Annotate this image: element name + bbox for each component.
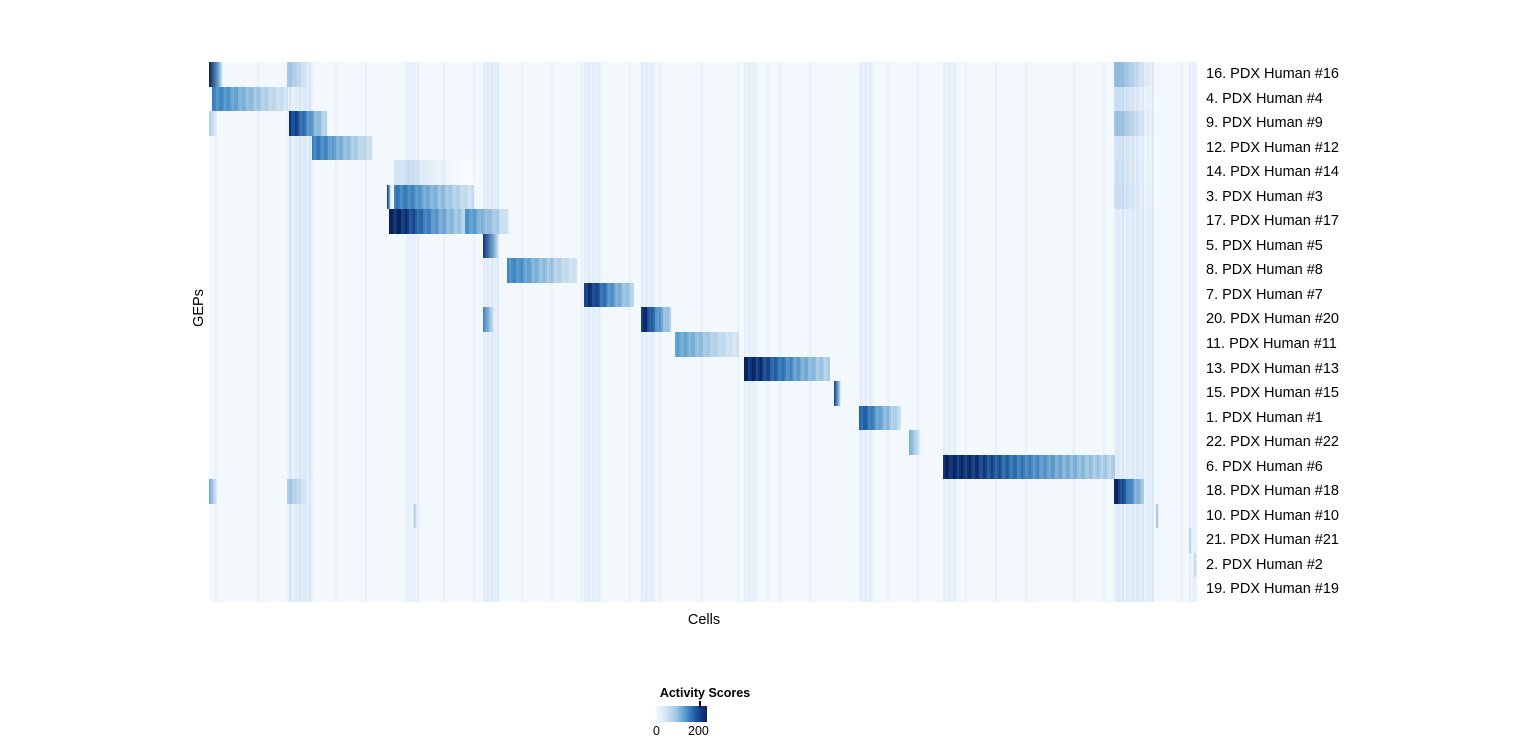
row-label: 14. PDX Human #14 (1206, 160, 1339, 185)
row-label: 2. PDX Human #2 (1206, 553, 1323, 578)
heatmap-block (1114, 62, 1154, 87)
heatmap-cell-stripe (370, 136, 372, 161)
heatmap-block (209, 62, 223, 87)
heatmap-row (209, 160, 1198, 185)
row-label: 17. PDX Human #17 (1206, 209, 1339, 234)
row-label: 12. PDX Human #12 (1206, 136, 1339, 161)
heatmap-row (209, 136, 1198, 161)
heatmap-plot-area (209, 62, 1198, 602)
colorbar-tick-0: 0 (653, 724, 660, 738)
heatmap-cell-stripe (669, 307, 671, 332)
heatmap-cell-stripe (472, 185, 474, 210)
row-label: 20. PDX Human #20 (1206, 307, 1339, 332)
heatmap-block (394, 160, 481, 185)
heatmap-figure: GEPs Cells 16. PDX Human #164. PDX Human… (0, 0, 1540, 743)
heatmap-row (209, 258, 1198, 283)
heatmap-block (287, 62, 313, 87)
heatmap-row (209, 87, 1198, 112)
heatmap-row (209, 357, 1198, 382)
row-label: 18. PDX Human #18 (1206, 479, 1339, 504)
heatmap-cell-stripe (1142, 479, 1144, 504)
row-label: 21. PDX Human #21 (1206, 528, 1339, 553)
heatmap-block (1114, 185, 1154, 210)
heatmap-row (209, 62, 1198, 87)
heatmap-row (209, 307, 1198, 332)
heatmap-cell-stripe (575, 258, 577, 283)
row-label-list: 16. PDX Human #164. PDX Human #49. PDX H… (1206, 62, 1506, 602)
heatmap-block (387, 185, 391, 210)
heatmap-row (209, 504, 1198, 529)
row-label: 7. PDX Human #7 (1206, 283, 1323, 308)
row-label: 4. PDX Human #4 (1206, 87, 1323, 112)
heatmap-row (209, 111, 1198, 136)
colorbar-tick-200: 200 (688, 724, 709, 738)
heatmap-block (1189, 528, 1192, 553)
heatmap-row (209, 455, 1198, 480)
heatmap-row (209, 553, 1198, 578)
heatmap-cell-stripe (1113, 455, 1115, 480)
colorbar-tick-mark (699, 701, 701, 708)
row-label: 3. PDX Human #3 (1206, 185, 1323, 210)
heatmap-row (209, 528, 1198, 553)
heatmap-block (1114, 160, 1154, 185)
heatmap-cell-stripe (507, 209, 509, 234)
row-label: 22. PDX Human #22 (1206, 430, 1339, 455)
heatmap-row (209, 381, 1198, 406)
row-label: 5. PDX Human #5 (1206, 234, 1323, 259)
colorbar-bar-wrap (655, 706, 707, 722)
colorbar-gradient (655, 706, 707, 722)
y-axis-label: GEPs (191, 273, 207, 343)
row-label: 16. PDX Human #16 (1206, 62, 1339, 87)
row-label: 8. PDX Human #8 (1206, 258, 1323, 283)
heatmap-cell-stripe (828, 357, 830, 382)
row-label: 9. PDX Human #9 (1206, 111, 1323, 136)
row-label: 6. PDX Human #6 (1206, 455, 1323, 480)
heatmap-block (483, 234, 499, 259)
heatmap-row (209, 209, 1198, 234)
colorbar-title: Activity Scores (580, 686, 830, 700)
row-label: 1. PDX Human #1 (1206, 406, 1323, 431)
heatmap-row (209, 283, 1198, 308)
heatmap-block (287, 479, 313, 504)
heatmap-block (1114, 136, 1154, 161)
heatmap-row (209, 430, 1198, 455)
heatmap-block (483, 307, 494, 332)
row-label: 15. PDX Human #15 (1206, 381, 1339, 406)
heatmap-block (209, 479, 217, 504)
heatmap-block (1114, 87, 1154, 112)
heatmap-block (414, 504, 417, 529)
row-label: 13. PDX Human #13 (1206, 357, 1339, 382)
heatmap-cell-stripe (632, 283, 634, 308)
heatmap-cell-stripe (737, 332, 739, 357)
heatmap-row (209, 234, 1198, 259)
colorbar-legend: Activity Scores 0 200 (580, 686, 830, 700)
heatmap-block (909, 430, 921, 455)
row-label: 19. PDX Human #19 (1206, 577, 1339, 602)
heatmap-row (209, 577, 1198, 602)
heatmap-block (834, 381, 841, 406)
heatmap-cell-stripe (325, 111, 327, 136)
heatmap-row (209, 479, 1198, 504)
heatmap-row (209, 332, 1198, 357)
heatmap-block (1156, 504, 1159, 529)
row-label: 11. PDX Human #11 (1206, 332, 1337, 357)
heatmap-block (1114, 111, 1154, 136)
heatmap-block (209, 111, 217, 136)
x-axis-label: Cells (604, 612, 804, 628)
heatmap-cell-stripe (286, 87, 288, 112)
heatmap-row (209, 185, 1198, 210)
heatmap-cell-stripe (899, 406, 901, 431)
heatmap-block (1194, 553, 1197, 578)
heatmap-row (209, 406, 1198, 431)
row-label: 10. PDX Human #10 (1206, 504, 1339, 529)
